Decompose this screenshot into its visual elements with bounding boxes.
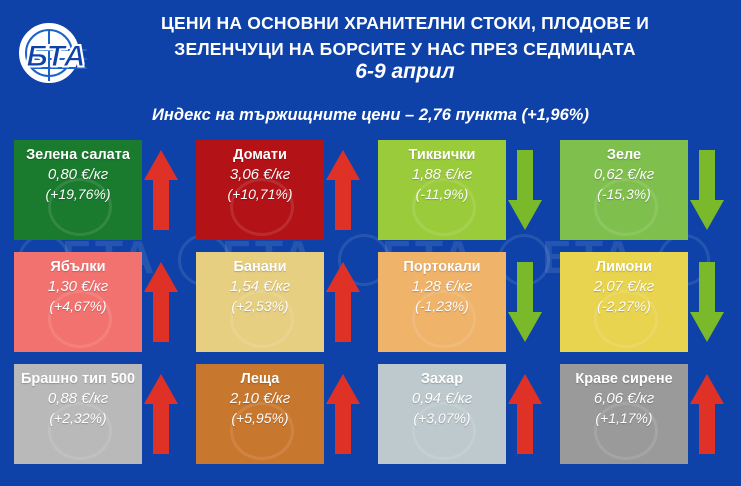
arrow-up-icon bbox=[326, 374, 360, 454]
arrow-down-icon bbox=[508, 262, 542, 342]
product-card-body: Банани1,54 €/кг(+2,53%) bbox=[196, 252, 324, 352]
product-change: (+2,32%) bbox=[20, 409, 136, 428]
product-card-body: Лимони2,07 €/кг(-2,27%) bbox=[560, 252, 688, 352]
arrow-up-icon bbox=[144, 262, 178, 342]
product-name: Банани bbox=[202, 259, 318, 275]
product-card-body: Захар0,94 €/кг(+3,07%) bbox=[378, 364, 506, 464]
product-card: Краве сирене6,06 €/кг(+1,17%) bbox=[560, 364, 730, 464]
product-card-row: Ябълки1,30 €/кг(+4,67%)Банани1,54 €/кг(+… bbox=[14, 252, 730, 352]
arrow-up-icon bbox=[690, 374, 724, 454]
trend-arrow-panel bbox=[502, 252, 548, 352]
product-price: 2,07 €/кг bbox=[566, 277, 682, 297]
arrow-up-icon bbox=[508, 374, 542, 454]
arrow-up-icon bbox=[326, 262, 360, 342]
product-card-body: Тиквички1,88 €/кг(-11,9%) bbox=[378, 140, 506, 240]
product-name: Захар bbox=[384, 371, 500, 387]
trend-arrow-panel bbox=[138, 252, 184, 352]
product-change: (+5,95%) bbox=[202, 409, 318, 428]
product-price: 1,88 €/кг bbox=[384, 165, 500, 185]
product-name: Лимони bbox=[566, 259, 682, 275]
product-card: Домати3,06 €/кг(+10,71%) bbox=[196, 140, 366, 240]
index-annotation: Индекс на тържищните цени – 2,76 пункта … bbox=[0, 106, 741, 125]
product-price: 2,10 €/кг bbox=[202, 389, 318, 409]
product-change: (-11,9%) bbox=[384, 185, 500, 204]
product-card-grid: Зелена салата0,80 €/кг(+19,76%)Домати3,0… bbox=[14, 140, 730, 476]
product-card-body: Зеле0,62 €/кг(-15,3%) bbox=[560, 140, 688, 240]
product-card: Банани1,54 €/кг(+2,53%) bbox=[196, 252, 366, 352]
product-name: Леща bbox=[202, 371, 318, 387]
product-card: Зелена салата0,80 €/кг(+19,76%) bbox=[14, 140, 184, 240]
bta-logo: БТА bbox=[8, 14, 102, 92]
trend-arrow-panel bbox=[138, 140, 184, 240]
product-card: Лимони2,07 €/кг(-2,27%) bbox=[560, 252, 730, 352]
arrow-down-icon bbox=[508, 150, 542, 230]
product-card: Ябълки1,30 €/кг(+4,67%) bbox=[14, 252, 184, 352]
product-price: 1,28 €/кг bbox=[384, 277, 500, 297]
page-subtitle: 6-9 април bbox=[105, 60, 705, 84]
product-change: (+3,07%) bbox=[384, 409, 500, 428]
product-card: Брашно тип 5000,88 €/кг(+2,32%) bbox=[14, 364, 184, 464]
product-name: Зелена салата bbox=[20, 147, 136, 163]
bta-logo-text: БТА bbox=[10, 40, 102, 74]
product-change: (+10,71%) bbox=[202, 185, 318, 204]
product-price: 3,06 €/кг bbox=[202, 165, 318, 185]
product-price: 0,62 €/кг bbox=[566, 165, 682, 185]
product-change: (-1,23%) bbox=[384, 297, 500, 316]
product-name: Зеле bbox=[566, 147, 682, 163]
product-price: 0,80 €/кг bbox=[20, 165, 136, 185]
product-card-row: Брашно тип 5000,88 €/кг(+2,32%)Леща2,10 … bbox=[14, 364, 730, 464]
arrow-down-icon bbox=[690, 150, 724, 230]
arrow-up-icon bbox=[144, 374, 178, 454]
product-card-row: Зелена салата0,80 €/кг(+19,76%)Домати3,0… bbox=[14, 140, 730, 240]
product-card-body: Домати3,06 €/кг(+10,71%) bbox=[196, 140, 324, 240]
trend-arrow-panel bbox=[138, 364, 184, 464]
product-card: Леща2,10 €/кг(+5,95%) bbox=[196, 364, 366, 464]
product-change: (+2,53%) bbox=[202, 297, 318, 316]
product-price: 6,06 €/кг bbox=[566, 389, 682, 409]
arrow-up-icon bbox=[326, 150, 360, 230]
product-change: (+1,17%) bbox=[566, 409, 682, 428]
product-name: Портокали bbox=[384, 259, 500, 275]
product-price: 1,54 €/кг bbox=[202, 277, 318, 297]
product-name: Ябълки bbox=[20, 259, 136, 275]
product-name: Краве сирене bbox=[566, 371, 682, 387]
product-card-body: Брашно тип 5000,88 €/кг(+2,32%) bbox=[14, 364, 142, 464]
product-card-body: Зелена салата0,80 €/кг(+19,76%) bbox=[14, 140, 142, 240]
product-card: Тиквички1,88 €/кг(-11,9%) bbox=[378, 140, 548, 240]
page-title-line2: ЗЕЛЕНЧУЦИ НА БОРСИТЕ У НАС ПРЕЗ СЕДМИЦАТ… bbox=[105, 36, 705, 62]
trend-arrow-panel bbox=[320, 140, 366, 240]
trend-arrow-panel bbox=[684, 364, 730, 464]
arrow-up-icon bbox=[144, 150, 178, 230]
page-title-line1: ЦЕНИ НА ОСНОВНИ ХРАНИТЕЛНИ СТОКИ, ПЛОДОВ… bbox=[105, 10, 705, 36]
trend-arrow-panel bbox=[502, 140, 548, 240]
product-card: Захар0,94 €/кг(+3,07%) bbox=[378, 364, 548, 464]
product-change: (+19,76%) bbox=[20, 185, 136, 204]
product-card-body: Леща2,10 €/кг(+5,95%) bbox=[196, 364, 324, 464]
product-change: (-2,27%) bbox=[566, 297, 682, 316]
trend-arrow-panel bbox=[502, 364, 548, 464]
product-card: Портокали1,28 €/кг(-1,23%) bbox=[378, 252, 548, 352]
product-name: Домати bbox=[202, 147, 318, 163]
trend-arrow-panel bbox=[320, 252, 366, 352]
product-price: 1,30 €/кг bbox=[20, 277, 136, 297]
trend-arrow-panel bbox=[684, 140, 730, 240]
product-card-body: Портокали1,28 €/кг(-1,23%) bbox=[378, 252, 506, 352]
product-change: (-15,3%) bbox=[566, 185, 682, 204]
trend-arrow-panel bbox=[320, 364, 366, 464]
product-change: (+4,67%) bbox=[20, 297, 136, 316]
product-card: Зеле0,62 €/кг(-15,3%) bbox=[560, 140, 730, 240]
product-card-body: Ябълки1,30 €/кг(+4,67%) bbox=[14, 252, 142, 352]
product-price: 0,88 €/кг bbox=[20, 389, 136, 409]
product-name: Тиквички bbox=[384, 147, 500, 163]
product-name: Брашно тип 500 bbox=[20, 371, 136, 387]
infographic-page: БТА БТА БТА БТА БТА ЦЕНИ НА ОСНОВНИ ХРАН… bbox=[0, 0, 741, 486]
trend-arrow-panel bbox=[684, 252, 730, 352]
product-price: 0,94 €/кг bbox=[384, 389, 500, 409]
page-title: ЦЕНИ НА ОСНОВНИ ХРАНИТЕЛНИ СТОКИ, ПЛОДОВ… bbox=[105, 10, 705, 62]
arrow-down-icon bbox=[690, 262, 724, 342]
product-card-body: Краве сирене6,06 €/кг(+1,17%) bbox=[560, 364, 688, 464]
